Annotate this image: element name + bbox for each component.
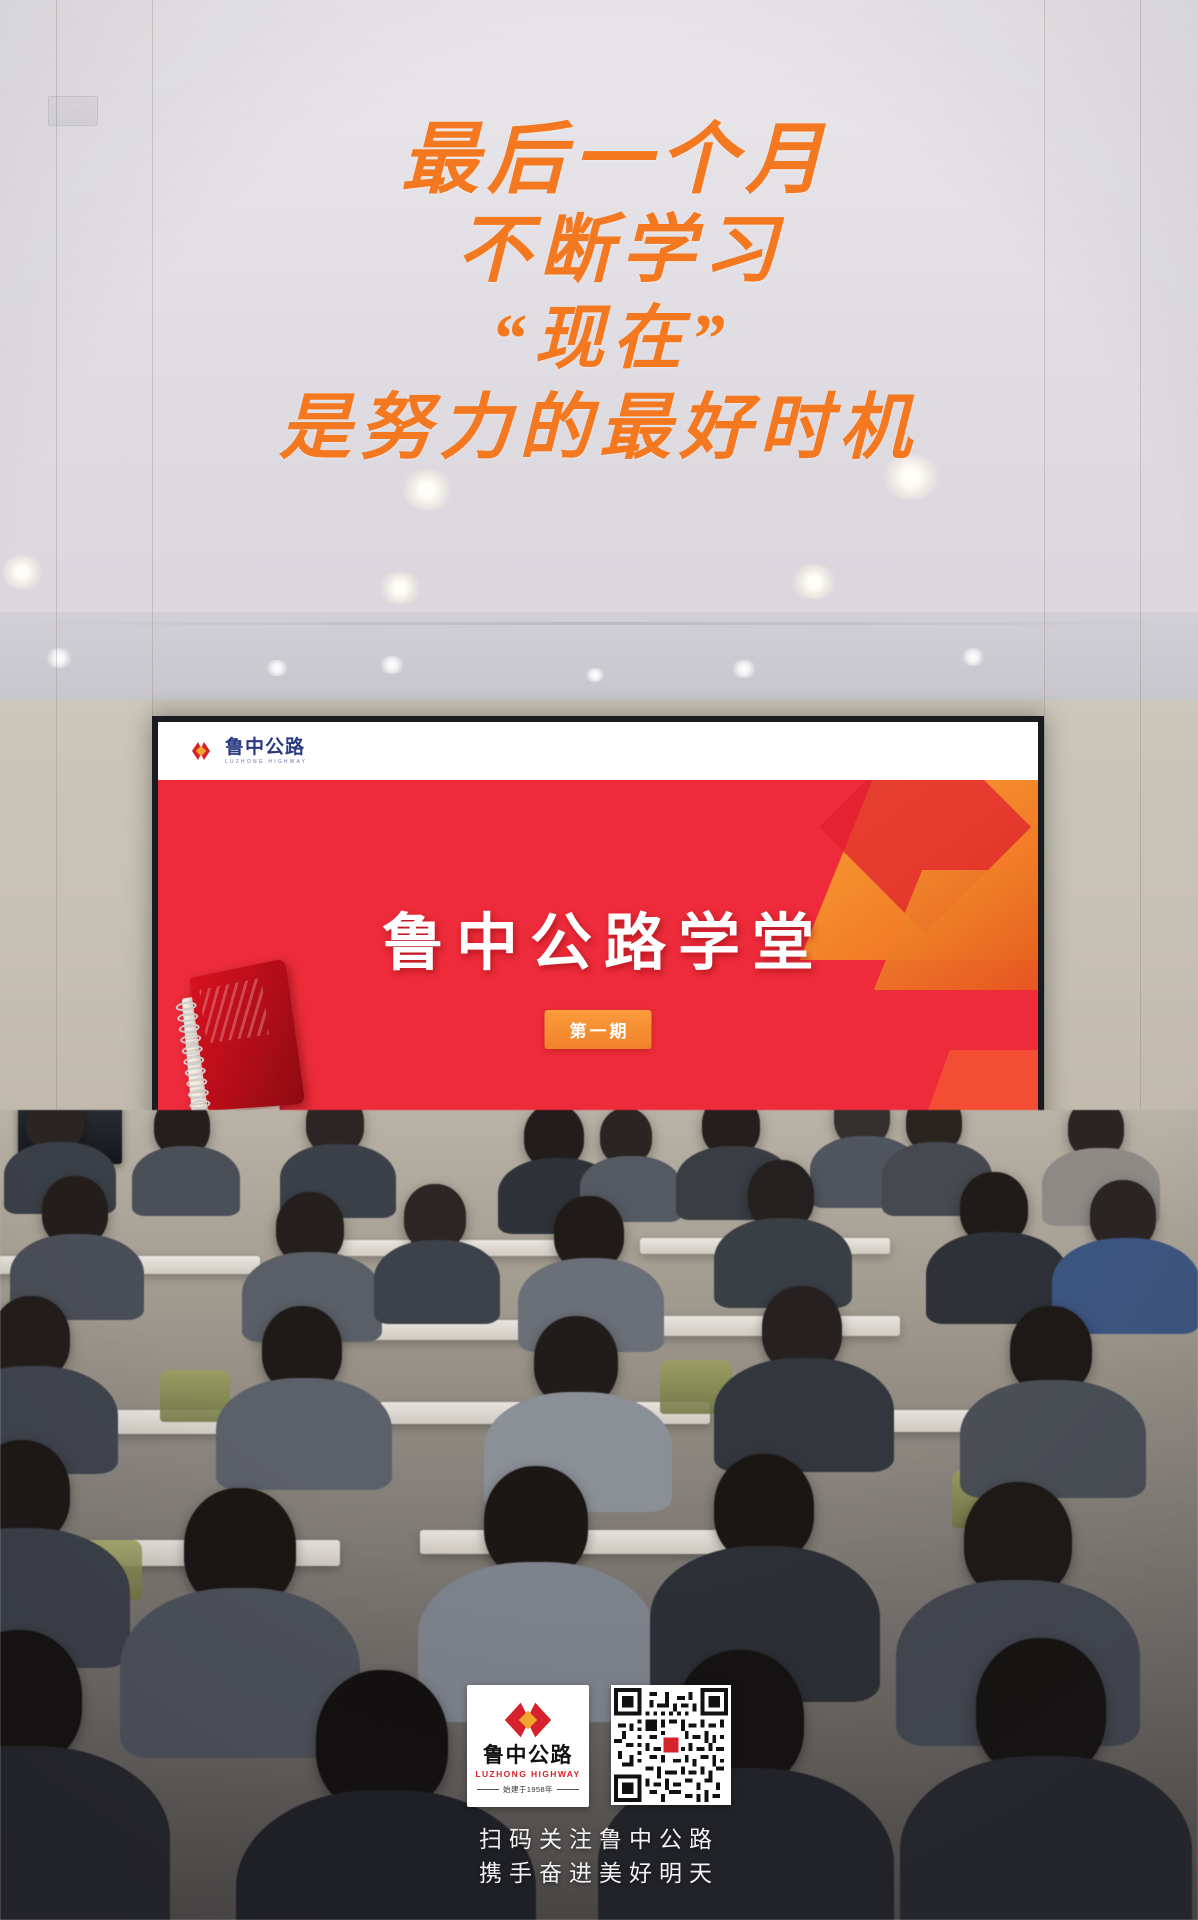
- slide-title: 鲁中公路学堂: [158, 892, 1038, 982]
- slide-logo-text: 鲁中公路 LUZHONG HIGHWAY: [225, 738, 307, 765]
- slide-logo-en: LUZHONG HIGHWAY: [225, 760, 307, 765]
- ceiling-light: [880, 455, 942, 499]
- ceiling-light: [960, 648, 986, 666]
- slide-logo-cn: 鲁中公路: [225, 738, 307, 757]
- slide-body: 鲁中公路学堂 第一期: [158, 780, 1038, 1140]
- poster-root: 鲁中公路 LUZHONG HIGHWAY: [0, 0, 1198, 1920]
- ceiling-light: [730, 660, 758, 678]
- ceiling-light: [400, 470, 454, 510]
- footer-cta-line-2: 携手奋进美好明天: [479, 1857, 719, 1890]
- rule-left: [477, 1789, 499, 1790]
- ceiling-light: [0, 555, 44, 589]
- footer-cta: 扫码关注鲁中公路 携手奋进美好明天: [479, 1823, 719, 1890]
- qr-code[interactable]: [611, 1685, 731, 1805]
- conference-room-photo: 鲁中公路 LUZHONG HIGHWAY: [0, 0, 1198, 1920]
- ceiling-panel: [0, 612, 1198, 708]
- footer-block: 鲁中公路 LUZHONG HIGHWAY 始建于1958年: [0, 1685, 1198, 1890]
- ceiling-light: [584, 668, 606, 682]
- ceiling-light: [378, 656, 406, 674]
- slide-header: 鲁中公路 LUZHONG HIGHWAY: [158, 722, 1038, 780]
- ceiling-light: [264, 660, 290, 676]
- brand-since: 始建于1958年: [477, 1784, 579, 1795]
- slide: 鲁中公路 LUZHONG HIGHWAY: [158, 722, 1038, 1140]
- brand-since-text: 始建于1958年: [503, 1784, 553, 1795]
- projection-screen: 鲁中公路 LUZHONG HIGHWAY: [152, 716, 1044, 1146]
- ceiling-light: [378, 572, 422, 604]
- luzhong-diamond-icon: [499, 1698, 557, 1742]
- brand-logo-card: 鲁中公路 LUZHONG HIGHWAY 始建于1958年: [467, 1685, 589, 1807]
- luzhong-diamond-icon: [186, 736, 216, 766]
- brand-name-cn: 鲁中公路: [483, 1745, 573, 1766]
- footer-cta-line-1: 扫码关注鲁中公路: [479, 1823, 719, 1856]
- ceiling-seam: [0, 622, 1198, 625]
- brand-name-en: LUZHONG HIGHWAY: [475, 1769, 580, 1779]
- ceiling: [0, 0, 1198, 640]
- slide-episode-badge: 第一期: [545, 1010, 652, 1049]
- rule-right: [557, 1789, 579, 1790]
- ceiling-light: [790, 565, 838, 599]
- footer-badges-row: 鲁中公路 LUZHONG HIGHWAY 始建于1958年: [467, 1685, 731, 1807]
- ceiling-light: [44, 648, 74, 668]
